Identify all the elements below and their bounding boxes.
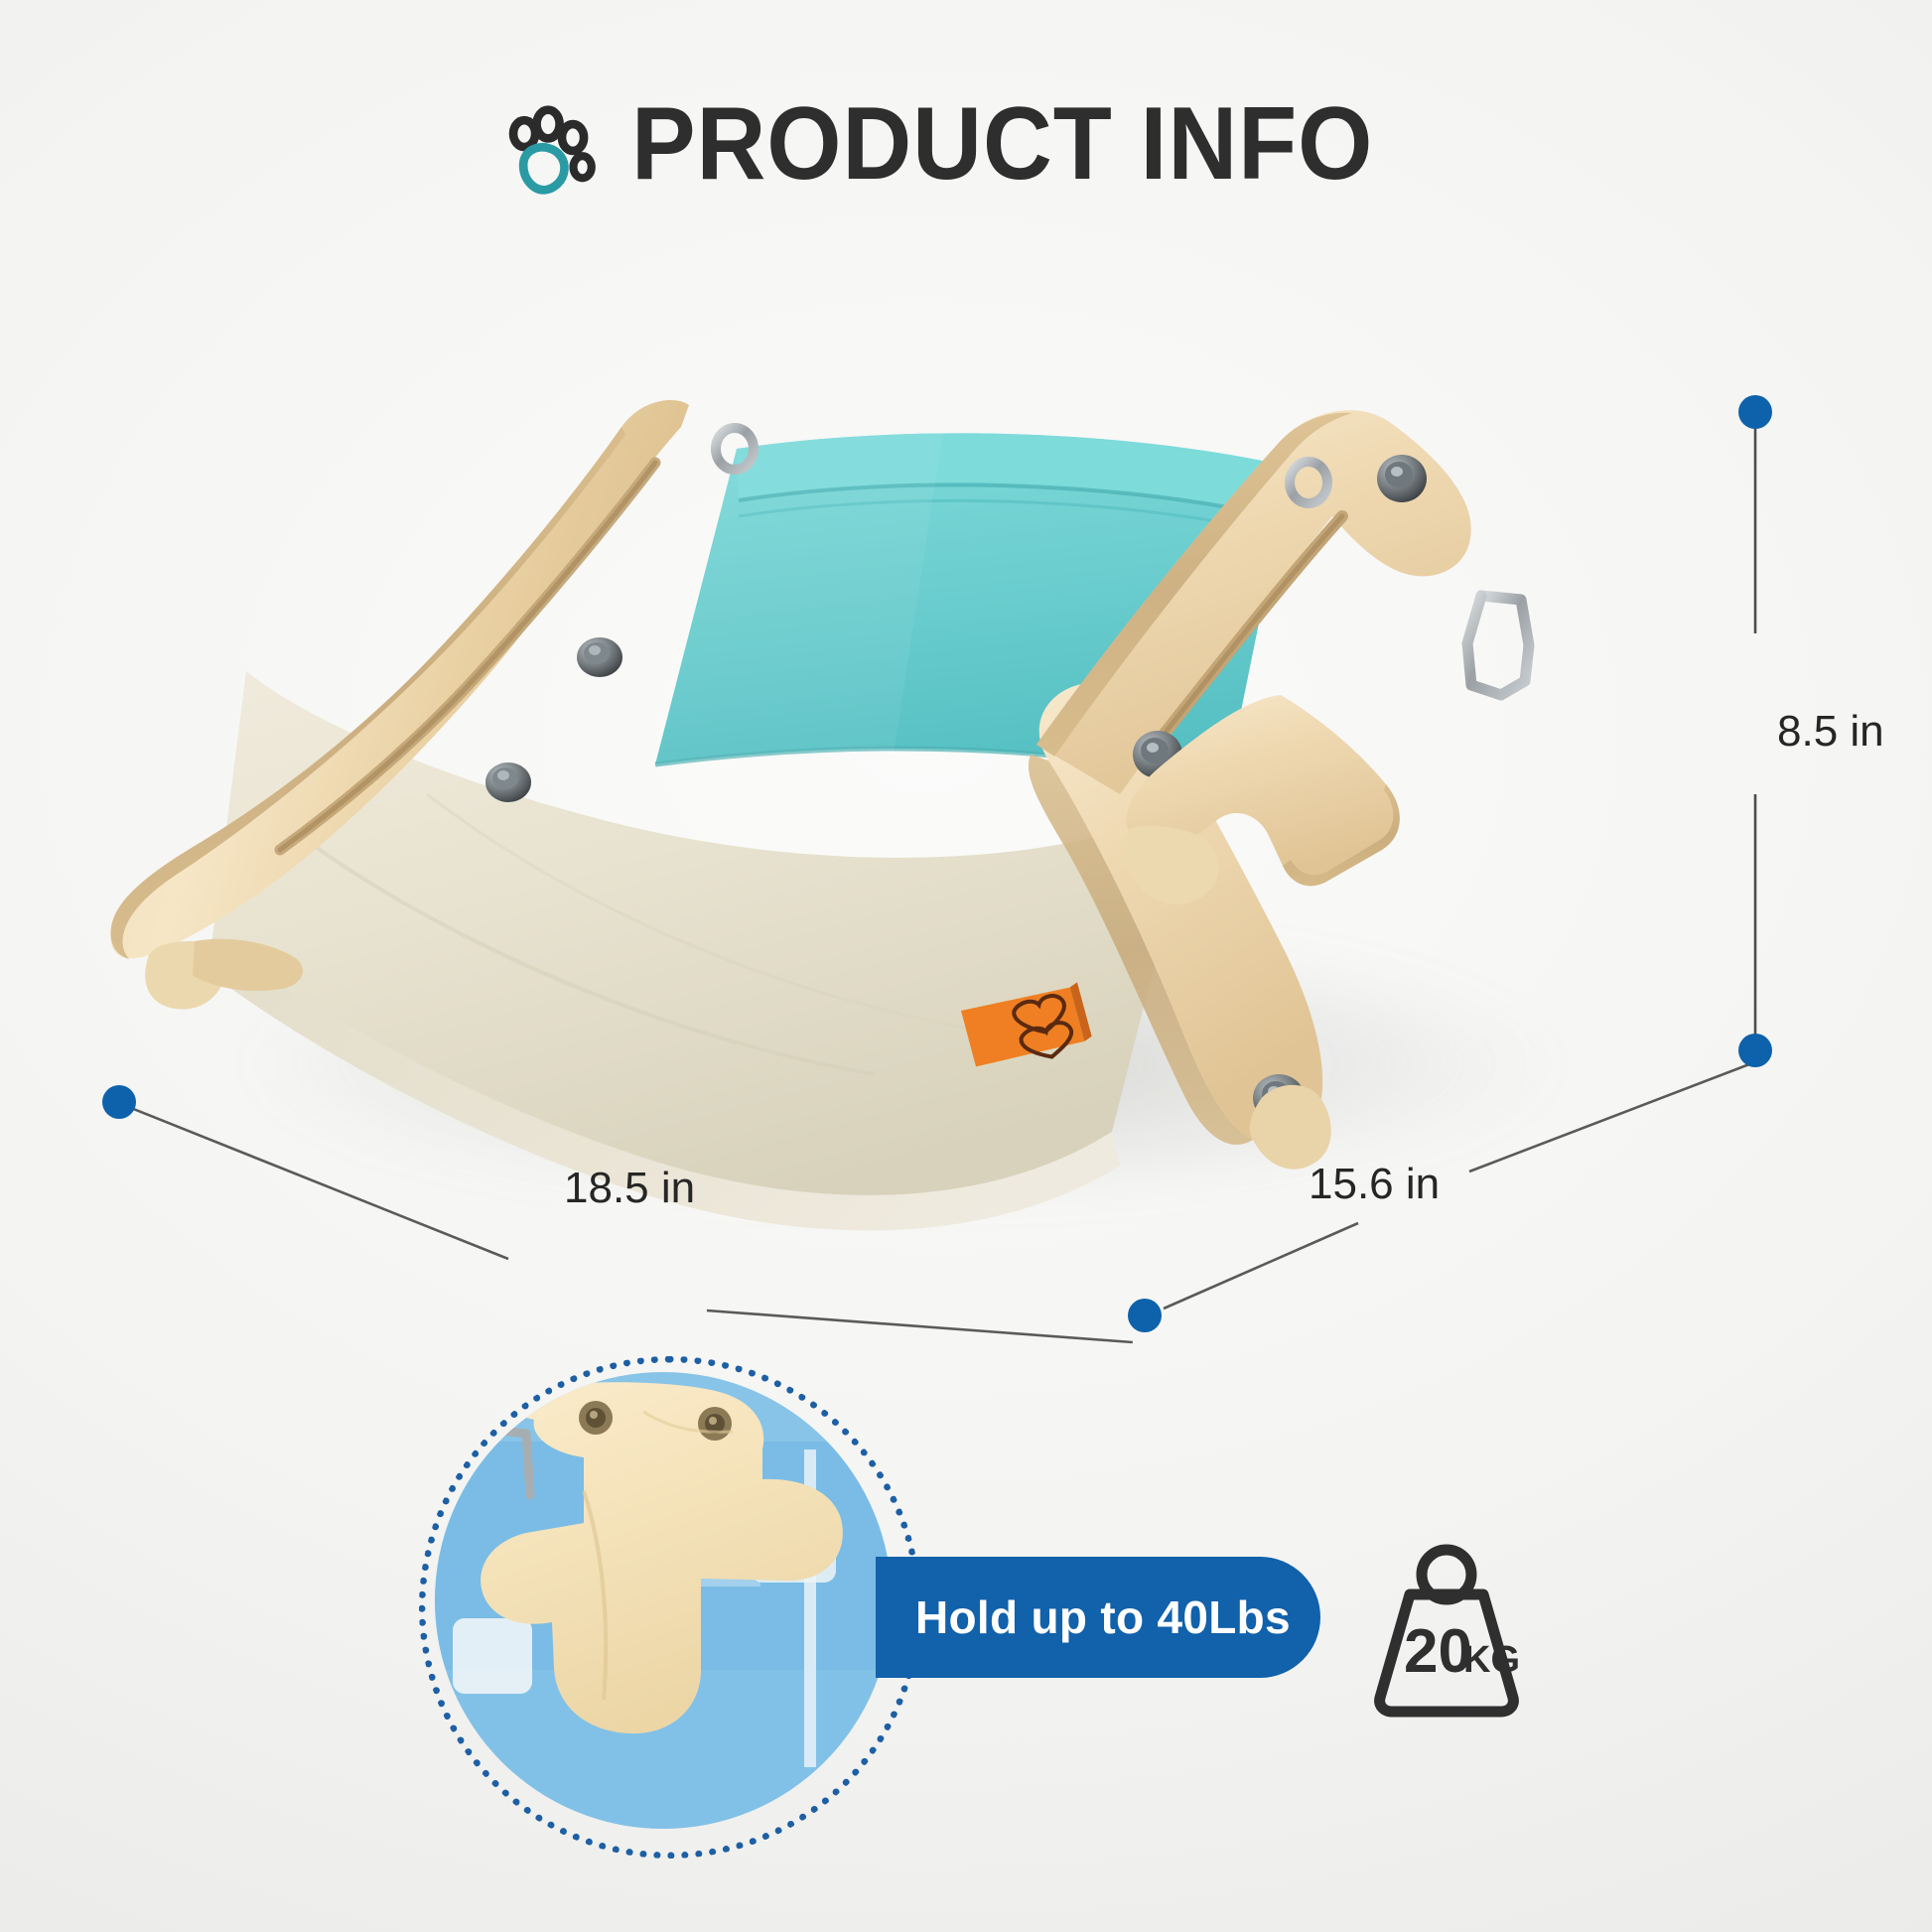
width-dimension-line-right bbox=[707, 1311, 1133, 1342]
dimension-marker-bottom bbox=[1128, 1299, 1162, 1332]
infographic-canvas: PRODUCT INFO bbox=[0, 0, 1932, 1932]
weight-capacity-pill: Hold up to 40Lbs bbox=[876, 1557, 1320, 1678]
depth-dimension-line-lower bbox=[1164, 1223, 1358, 1309]
width-dimension-line-left bbox=[121, 1104, 508, 1259]
weight-value-text: 20 bbox=[1404, 1617, 1472, 1686]
height-dimension-label: 8.5 in bbox=[1777, 707, 1884, 757]
dimension-marker-top-right bbox=[1738, 395, 1772, 429]
detail-closeup-circle bbox=[435, 1372, 892, 1829]
depth-dimension-line-upper bbox=[1469, 1064, 1749, 1172]
weight-unit-text: KG bbox=[1463, 1639, 1520, 1681]
dimension-marker-left bbox=[102, 1085, 136, 1119]
weight-kettlebell-icon: 20 KG bbox=[1352, 1537, 1541, 1725]
dimension-marker-bottom-right bbox=[1738, 1034, 1772, 1067]
weight-capacity-label: Hold up to 40Lbs bbox=[915, 1590, 1291, 1644]
depth-dimension-label: 15.6 in bbox=[1309, 1160, 1440, 1209]
width-dimension-label: 18.5 in bbox=[564, 1164, 695, 1213]
